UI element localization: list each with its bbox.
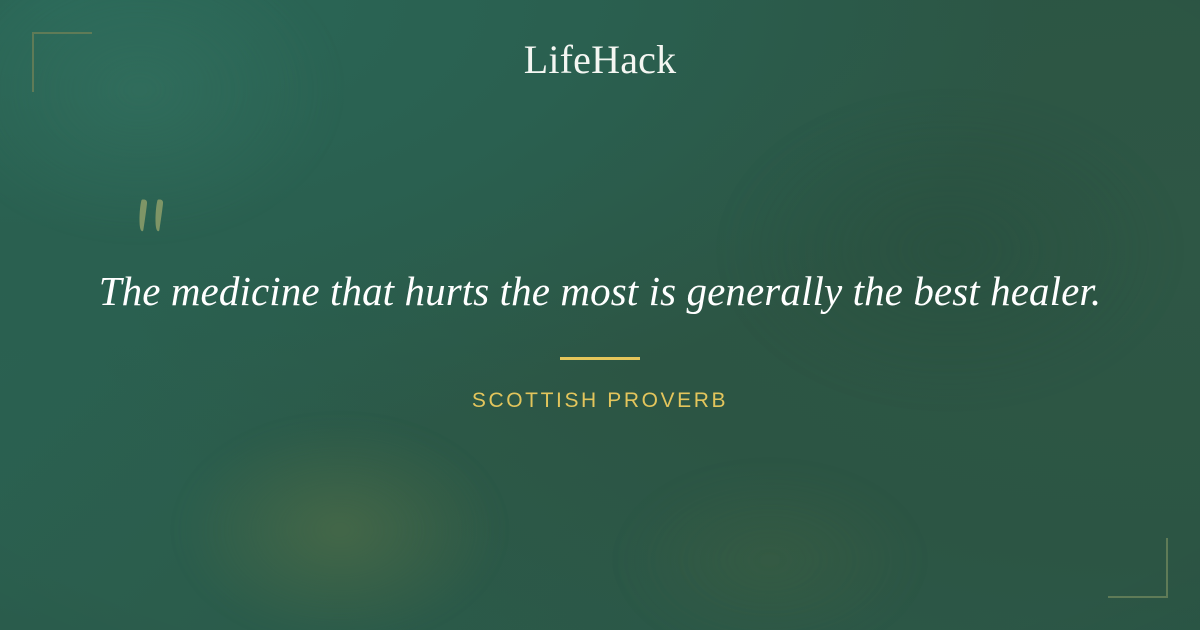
quote-attribution: SCOTTISH PROVERB	[0, 388, 1200, 413]
quote-card: LifeHack The medicine that hurts the mos…	[0, 0, 1200, 630]
quote-text: The medicine that hurts the most is gene…	[0, 266, 1200, 316]
corner-bracket-icon-bottom-right	[1108, 538, 1168, 598]
double-quote-icon	[133, 196, 179, 242]
gold-divider	[560, 357, 640, 360]
brand-logo[interactable]: LifeHack	[0, 40, 1200, 80]
